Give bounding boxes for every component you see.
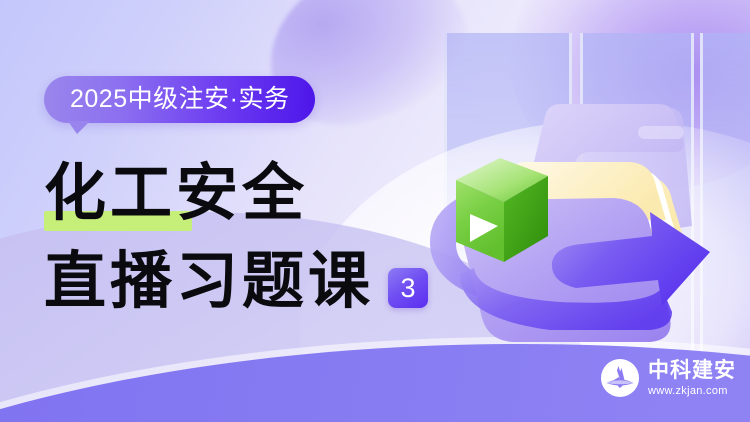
episode-number: 3	[400, 275, 415, 302]
brand-logo-text: 中科建安 www.zkjan.com	[648, 360, 736, 397]
brand-logo: 中科建安 www.zkjan.com	[600, 358, 736, 398]
course-banner: 2025中级注安·实务 化工安全 直播习题课 3 中科建安 www.zkjan.…	[0, 0, 750, 422]
course-tag: 2025中级注安·实务	[44, 76, 315, 123]
brand-url: www.zkjan.com	[648, 386, 736, 397]
brand-name: 中科建安	[648, 360, 736, 381]
course-title-line-2: 直播习题课	[44, 250, 374, 312]
course-tag-label: 2025中级注安·实务	[70, 87, 289, 112]
episode-number-badge: 3	[388, 268, 428, 308]
course-tag-pill: 2025中级注安·实务	[44, 76, 315, 123]
zkjan-mountain-icon	[600, 358, 640, 398]
course-title-line-1: 化工安全	[44, 162, 308, 224]
course-tag-tail	[68, 121, 90, 134]
folder-illustration	[400, 30, 740, 360]
